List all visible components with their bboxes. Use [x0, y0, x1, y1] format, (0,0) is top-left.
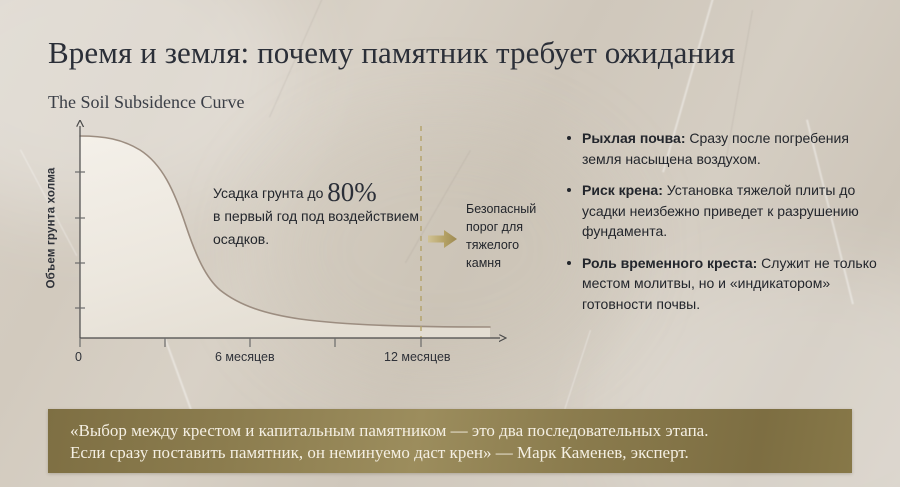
y-axis-label: Объем грунта холма — [40, 120, 62, 335]
soil-subsidence-chart: Объем грунта холма — [44, 120, 514, 385]
y-axis-label-text: Объем грунта холма — [45, 167, 57, 288]
key-points-list: Рыхлая почва: Сразу после погребения зем… — [566, 128, 886, 325]
list-item: Риск крена: Установка тяжелой плиты до у… — [566, 180, 886, 242]
quote-line-2: Если сразу поставить памятник, он немину… — [70, 443, 689, 462]
subsidence-callout: Усадка грунта до 80% в первый год под во… — [213, 182, 428, 251]
callout-highlight: 80% — [327, 177, 377, 207]
x-tick-label-12: 12 месяцев — [384, 350, 451, 364]
list-item-lead: Риск крена: — [582, 182, 663, 198]
x-tick-label-0: 0 — [75, 350, 82, 364]
safe-threshold-label: Безопасный порог для тяжелого камня — [466, 200, 552, 272]
quote-banner: «Выбор между крестом и капитальным памят… — [48, 409, 852, 473]
list-item: Рыхлая почва: Сразу после погребения зем… — [566, 128, 886, 169]
arrow-right-icon — [428, 229, 458, 249]
callout-after: в первый год под воздействием осадков. — [213, 208, 419, 247]
list-item-lead: Роль временного креста: — [582, 255, 757, 271]
quote-line-1: «Выбор между крестом и капитальным памят… — [70, 421, 708, 440]
page-title: Время и земля: почему памятник требует о… — [48, 34, 735, 72]
list-item: Роль временного креста: Служит не только… — [566, 253, 886, 315]
x-axis-ticks — [80, 338, 421, 347]
list-item-lead: Рыхлая почва: — [582, 130, 685, 146]
callout-before: Усадка грунта до — [213, 185, 327, 201]
x-tick-label-6: 6 месяцев — [215, 350, 275, 364]
chart-subtitle: The Soil Subsidence Curve — [48, 92, 244, 113]
